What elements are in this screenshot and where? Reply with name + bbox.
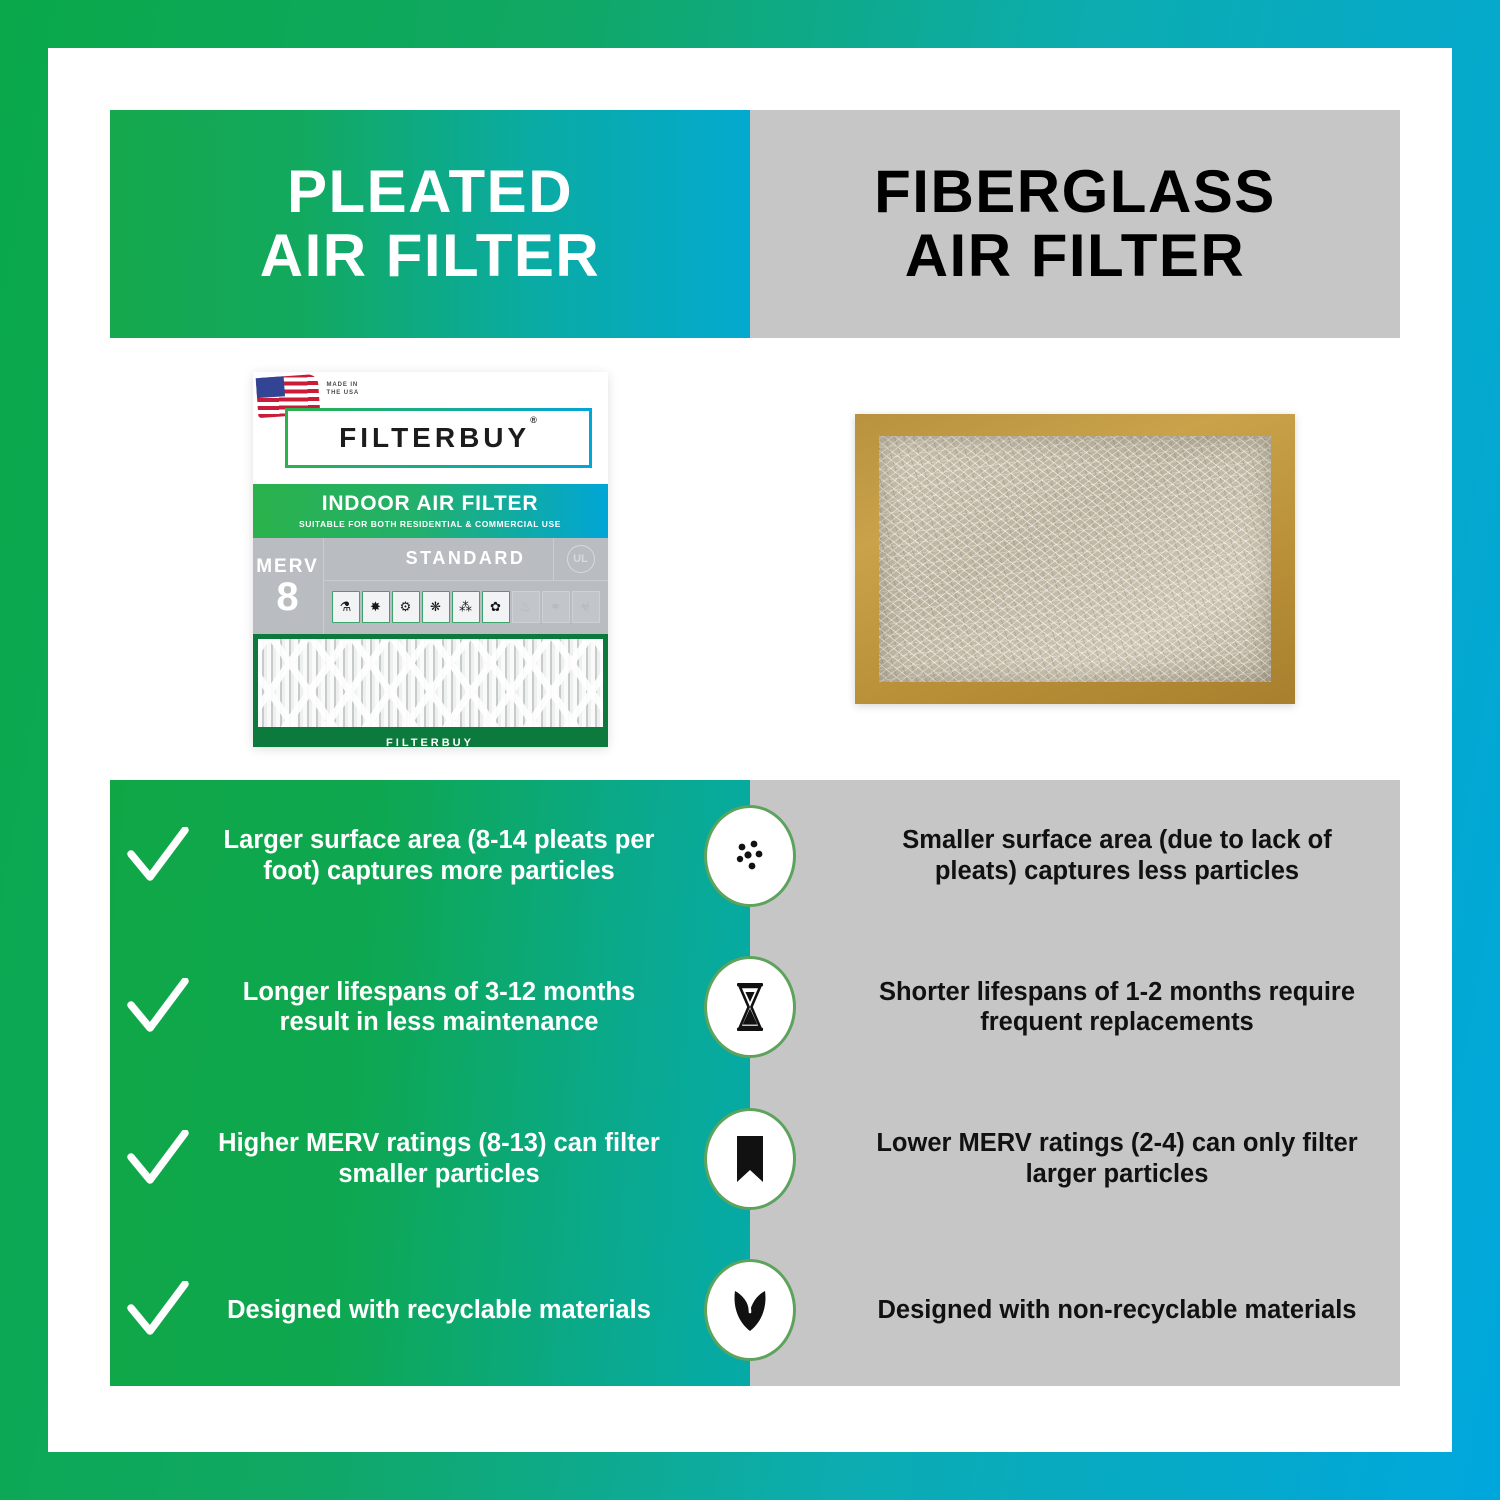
virus-icon: ☣ xyxy=(572,591,600,623)
comparison-left-cell: Higher MERV ratings (8-13) can filter sm… xyxy=(110,1128,750,1189)
made-in-line1: MADE IN xyxy=(327,381,360,389)
bacteria-small-icon: ⚭ xyxy=(542,591,570,623)
header-fiberglass-line2: AIR FILTER xyxy=(874,224,1276,288)
fiberglass-mesh-texture xyxy=(879,436,1271,682)
comparison-left-cell: Designed with recyclable materials xyxy=(110,1281,750,1339)
comparison-left-text: Higher MERV ratings (8-13) can filter sm… xyxy=(206,1128,672,1189)
comparison-right-text: Lower MERV ratings (2-4) can only filter… xyxy=(868,1128,1366,1189)
comparison-row: Designed with recyclable materialsDesign… xyxy=(110,1235,1400,1387)
bookmark-icon xyxy=(733,1134,767,1184)
smoke-icon: ♨ xyxy=(512,591,540,623)
comparison-left-text: Larger surface area (8-14 pleats per foo… xyxy=(206,825,672,886)
fiberglass-filter-image-cell xyxy=(750,338,1400,780)
pollen-icon: ✸ xyxy=(362,591,390,623)
leaf-icon-badge xyxy=(704,1259,796,1361)
comparison-panel: Larger surface area (8-14 pleats per foo… xyxy=(110,780,1400,1386)
comparison-left-cell: Longer lifespans of 3-12 months result i… xyxy=(110,977,750,1038)
merv-rating-block: MERV 8 xyxy=(253,538,324,634)
box-grade-block: STANDARD UL ⚗✸⚙❋⁂✿♨⚭☣ xyxy=(324,538,608,634)
pleated-filter-image-cell: MADE IN THE USA FILTERBUY® INDOOR AIR FI… xyxy=(110,338,750,780)
comparison-left-text: Designed with recyclable materials xyxy=(206,1295,672,1326)
bookmark-icon-badge xyxy=(704,1108,796,1210)
brand-logo-frame: FILTERBUY® xyxy=(285,408,592,468)
comparison-left-cell: Larger surface area (8-14 pleats per foo… xyxy=(110,825,750,886)
check-icon xyxy=(110,978,206,1036)
hourglass-icon-badge xyxy=(704,956,796,1058)
header-pleated-line1: PLEATED xyxy=(287,158,573,225)
comparison-right-text: Shorter lifespans of 1-2 months require … xyxy=(868,977,1366,1038)
brand-name: FILTERBUY xyxy=(339,422,530,453)
bacteria-icon: ⚙ xyxy=(392,591,420,623)
diamond-support-mesh xyxy=(258,639,603,727)
box-band-subtitle: SUITABLE FOR BOTH RESIDENTIAL & COMMERCI… xyxy=(299,519,561,529)
header-fiberglass-line1: FIBERGLASS xyxy=(874,158,1276,225)
infographic-root: PLEATED AIR FILTER FIBERGLASS AIR FILTER xyxy=(0,0,1500,1500)
comparison-right-cell: Lower MERV ratings (2-4) can only filter… xyxy=(750,1128,1400,1189)
check-icon xyxy=(110,827,206,885)
box-grade-row: STANDARD UL xyxy=(324,538,608,581)
dust-mite-icon: ⚗ xyxy=(332,591,360,623)
check-icon xyxy=(110,1281,206,1339)
header-band: PLEATED AIR FILTER FIBERGLASS AIR FILTER xyxy=(110,110,1400,338)
made-in-usa-label: MADE IN THE USA xyxy=(327,381,360,397)
particles-icon xyxy=(728,834,772,878)
made-in-line2: THE USA xyxy=(327,389,360,397)
box-spec-section: MERV 8 STANDARD UL ⚗✸⚙❋⁂✿♨⚭☣ xyxy=(253,538,608,634)
header-pleated-line2: AIR FILTER xyxy=(260,224,601,288)
comparison-row: Longer lifespans of 3-12 months result i… xyxy=(110,932,1400,1084)
filter-feature-icon-row: ⚗✸⚙❋⁂✿♨⚭☣ xyxy=(324,581,608,634)
comparison-row: Higher MERV ratings (8-13) can filter sm… xyxy=(110,1083,1400,1235)
comparison-rows: Larger surface area (8-14 pleats per foo… xyxy=(110,780,1400,1386)
check-icon xyxy=(110,1130,206,1188)
comparison-right-cell: Smaller surface area (due to lack of ple… xyxy=(750,825,1400,886)
inner-canvas: PLEATED AIR FILTER FIBERGLASS AIR FILTER xyxy=(48,48,1452,1452)
comparison-right-cell: Designed with non-recyclable materials xyxy=(750,1295,1400,1326)
box-top-section: MADE IN THE USA FILTERBUY® xyxy=(253,372,608,484)
merv-value: 8 xyxy=(276,578,298,616)
trademark-mark: ® xyxy=(530,415,537,425)
brand-logo-text: FILTERBUY® xyxy=(339,422,537,454)
fiberglass-filter-photo xyxy=(855,414,1295,704)
filterbuy-product-box: MADE IN THE USA FILTERBUY® INDOOR AIR FI… xyxy=(253,372,608,747)
comparison-right-text: Designed with non-recyclable materials xyxy=(868,1295,1366,1326)
leaf-icon xyxy=(727,1287,773,1333)
ul-certification-icon: UL xyxy=(567,545,595,573)
header-fiberglass-title: FIBERGLASS AIR FILTER xyxy=(874,160,1276,287)
header-pleated-title: PLEATED AIR FILTER xyxy=(260,160,601,287)
header-fiberglass: FIBERGLASS AIR FILTER xyxy=(750,110,1400,338)
mold-icon: ❋ xyxy=(422,591,450,623)
product-image-band: MADE IN THE USA FILTERBUY® INDOOR AIR FI… xyxy=(110,338,1400,780)
comparison-row: Larger surface area (8-14 pleats per foo… xyxy=(110,780,1400,932)
comparison-right-text: Smaller surface area (due to lack of ple… xyxy=(868,825,1366,886)
particles-icon-badge xyxy=(704,805,796,907)
header-pleated: PLEATED AIR FILTER xyxy=(110,110,750,338)
hourglass-icon xyxy=(732,981,768,1033)
box-footer-brand: FILTERBUY xyxy=(253,737,608,747)
box-pleated-media: FILTERBUY xyxy=(253,634,608,747)
lint-icon: ⁂ xyxy=(452,591,480,623)
box-gradient-band: INDOOR AIR FILTER SUITABLE FOR BOTH RESI… xyxy=(253,484,608,538)
box-band-title: INDOOR AIR FILTER xyxy=(322,492,539,516)
comparison-left-text: Longer lifespans of 3-12 months result i… xyxy=(206,977,672,1038)
ul-cert-cell: UL xyxy=(553,538,608,580)
pet-dander-icon: ✿ xyxy=(482,591,510,623)
grade-label: STANDARD xyxy=(406,548,526,569)
comparison-right-cell: Shorter lifespans of 1-2 months require … xyxy=(750,977,1400,1038)
pleat-texture xyxy=(258,639,603,727)
